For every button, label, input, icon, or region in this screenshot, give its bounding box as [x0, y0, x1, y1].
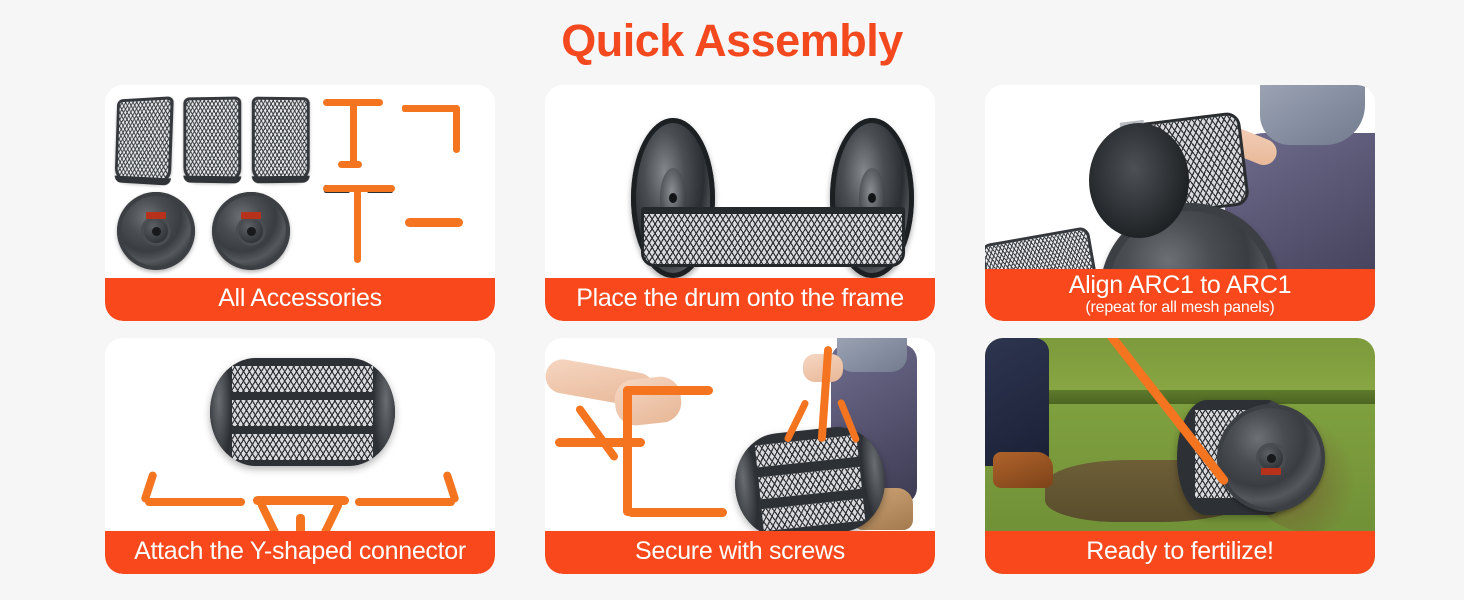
t-handle-foot-icon: [338, 161, 362, 168]
mesh-panel-2-icon: [183, 97, 241, 183]
spreader-wheel-icon: [1217, 404, 1325, 512]
handle-frame-bottom-icon: [627, 508, 727, 517]
step-3-caption-text: Align ARC1 to ARC1: [991, 271, 1369, 299]
step-4-caption: Attach the Y-shaped connector: [105, 531, 495, 574]
end-cap-disc-1-icon: [117, 192, 195, 270]
step-5-caption-text: Secure with screws: [551, 536, 929, 567]
step-6-caption-text: Ready to fertilize!: [991, 536, 1369, 567]
end-cap-disc-2-icon: [212, 192, 290, 270]
handle-frame-arm-icon: [623, 386, 713, 395]
person-gray-sleeve: [1260, 85, 1365, 145]
mesh-panel-3-icon: [252, 97, 310, 183]
cross-bar-icon: [405, 218, 463, 227]
step-6-caption: Ready to fertilize!: [985, 531, 1375, 574]
lower-t-stem-icon: [354, 185, 361, 263]
l-bracket-side-icon: [453, 105, 460, 153]
t-handle-stem-icon: [350, 99, 357, 165]
step-3-caption-subtext: (repeat for all mesh panels): [991, 299, 1369, 316]
step-card-6[interactable]: Ready to fertilize!: [985, 338, 1375, 574]
assembly-steps-grid: All Accessories Place the drum onto the …: [105, 85, 1380, 574]
step-5-caption: Secure with screws: [545, 531, 935, 574]
l-bracket-top-icon: [402, 105, 460, 112]
person-brown-boot-icon: [993, 452, 1053, 488]
step-4-caption-text: Attach the Y-shaped connector: [111, 536, 489, 567]
assembled-drum-icon: [210, 358, 395, 466]
step-card-1[interactable]: All Accessories: [105, 85, 495, 321]
step-card-4[interactable]: Attach the Y-shaped connector: [105, 338, 495, 574]
person-shirt-icon: [837, 338, 907, 372]
drum-mesh-top-rail-icon: [641, 207, 905, 213]
page-title: Quick Assembly: [0, 0, 1464, 72]
step-card-5[interactable]: Secure with screws: [545, 338, 935, 574]
handle-frame-diagonal-icon: [574, 404, 619, 462]
side-arm-left-bar-icon: [145, 498, 245, 506]
drum-back-disc-icon: [1089, 123, 1189, 238]
step-card-2[interactable]: Place the drum onto the frame: [545, 85, 935, 321]
step-card-3[interactable]: Align ARC1 to ARC1 (repeat for all mesh …: [985, 85, 1375, 321]
step-3-caption: Align ARC1 to ARC1 (repeat for all mesh …: [985, 269, 1375, 321]
handle-frame-top-icon: [623, 386, 632, 516]
mesh-panel-1-icon: [115, 96, 174, 184]
person-navy-pants: [985, 338, 1049, 466]
step-1-caption-text: All Accessories: [111, 283, 489, 314]
step-2-caption: Place the drum onto the frame: [545, 278, 935, 321]
step-1-caption: All Accessories: [105, 278, 495, 321]
drum-mesh-bed-icon: [641, 211, 905, 267]
side-arm-right-bar-icon: [355, 498, 455, 506]
step-2-caption-text: Place the drum onto the frame: [551, 283, 929, 314]
